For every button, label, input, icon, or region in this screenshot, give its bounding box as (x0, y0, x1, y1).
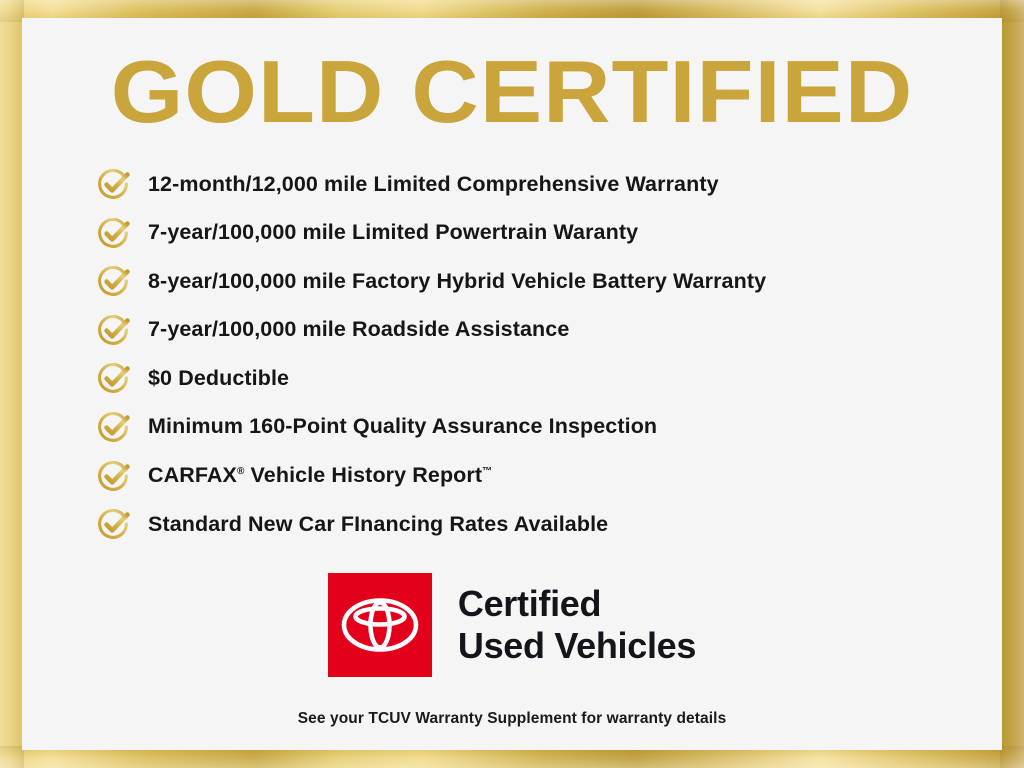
benefit-label: 8-year/100,000 mile Factory Hybrid Vehic… (148, 269, 766, 294)
check-circle-icon (94, 164, 134, 204)
toyota-emblem-tile (328, 573, 432, 677)
benefit-item: Minimum 160-Point Quality Assurance Insp… (94, 403, 984, 451)
wordmark-line-certified: Certified (458, 583, 696, 625)
benefit-label: Standard New Car FInancing Rates Availab… (148, 512, 608, 537)
toyota-emblem-icon (341, 597, 419, 653)
benefit-label: 12-month/12,000 mile Limited Comprehensi… (148, 172, 719, 197)
benefit-label: 7-year/100,000 mile Roadside Assistance (148, 317, 569, 342)
page-title: GOLD CERTIFIED (0, 48, 1024, 136)
benefit-item: Standard New Car FInancing Rates Availab… (94, 500, 984, 548)
benefit-item: 12-month/12,000 mile Limited Comprehensi… (94, 160, 984, 208)
check-circle-icon (94, 456, 134, 496)
trademark-mark-icon: ™ (482, 466, 492, 477)
certificate-card: GOLD CERTIFIED 12-month/12,000 mile Limi… (22, 18, 1002, 750)
benefit-label: 7-year/100,000 mile Limited Powertrain W… (148, 220, 638, 245)
wordmark-line-used-vehicles: Used Vehicles (458, 625, 696, 667)
benefits-list: 12-month/12,000 mile Limited Comprehensi… (94, 160, 984, 549)
check-circle-icon (94, 358, 134, 398)
registered-mark-icon: ® (237, 466, 244, 477)
check-circle-icon (94, 407, 134, 447)
benefit-item: 7-year/100,000 mile Limited Powertrain W… (94, 209, 984, 257)
toyota-wordmark: Certified Used Vehicles (458, 583, 696, 667)
toyota-certified-used-vehicles-lockup: Certified Used Vehicles (22, 573, 1002, 677)
benefit-label: CARFAX® Vehicle History Report™ (148, 463, 492, 488)
benefit-label: $0 Deductible (148, 366, 289, 391)
check-circle-icon (94, 213, 134, 253)
check-circle-icon (94, 261, 134, 301)
benefit-item: 7-year/100,000 mile Roadside Assistance (94, 306, 984, 354)
certificate-gold-frame: GOLD CERTIFIED 12-month/12,000 mile Limi… (0, 0, 1024, 768)
benefit-item: CARFAX® Vehicle History Report™ (94, 452, 984, 500)
check-circle-icon (94, 310, 134, 350)
benefit-item: $0 Deductible (94, 354, 984, 402)
benefit-label: Minimum 160-Point Quality Assurance Insp… (148, 414, 657, 439)
check-circle-icon (94, 504, 134, 544)
benefit-item: 8-year/100,000 mile Factory Hybrid Vehic… (94, 257, 984, 305)
warranty-disclaimer: See your TCUV Warranty Supplement for wa… (22, 710, 1002, 728)
